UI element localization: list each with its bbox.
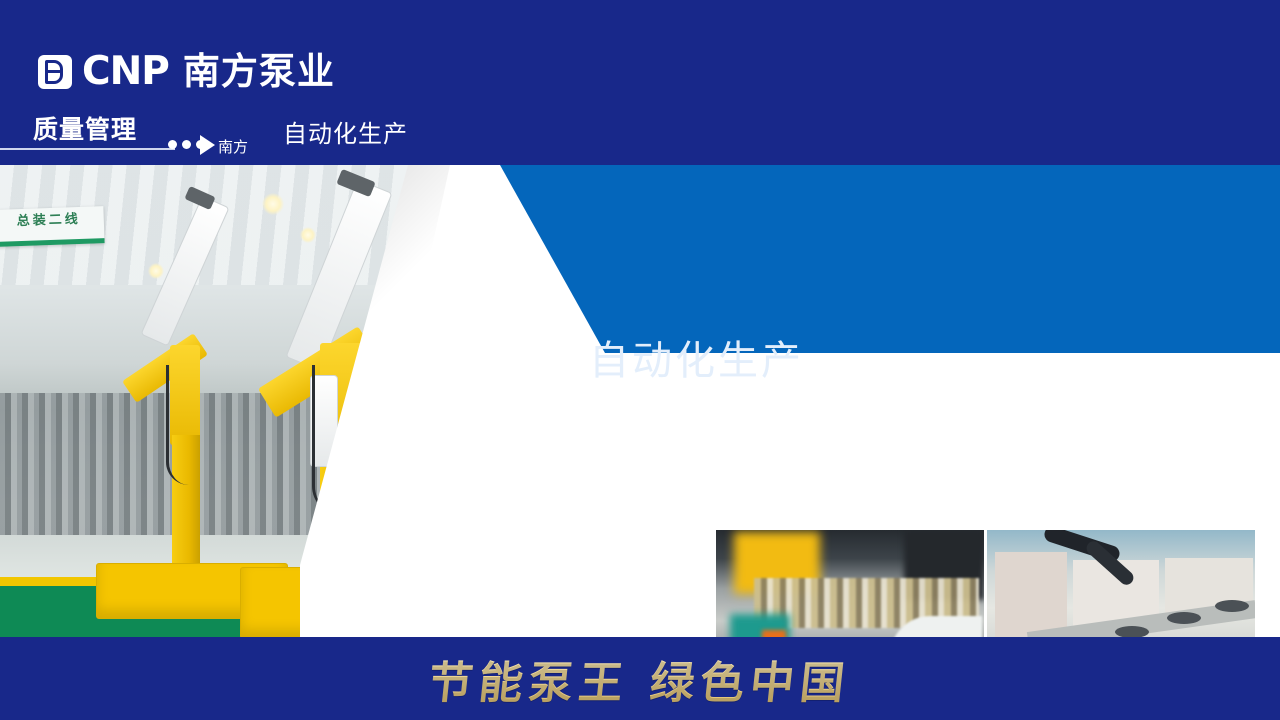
section-title: 质量管理 (33, 110, 137, 146)
panel-body-text: 如今的南方泵业，将自动化技术覆盖到零部件加工生产、整泵装配调试、出厂检验等诸多环… (590, 405, 990, 474)
panel-title: 自动化生产 (589, 341, 804, 381)
cnp-square-logo-icon (38, 55, 72, 89)
page-title: 自动化生产 (283, 114, 408, 149)
thumb-assembly-line[interactable] (716, 530, 984, 637)
nav-sub-label: 南方 (218, 136, 248, 157)
nav-arrow-icon (200, 135, 215, 155)
brand-logo[interactable]: CNP 南方泵业 (38, 52, 335, 91)
nav-divider-line (0, 148, 175, 150)
footer-slogan: 节能泵王 绿色中国 (0, 637, 1280, 720)
slide-root: CNP 南方泵业 质量管理 南方 自动化生产 总装二线 (0, 0, 1280, 720)
info-panel (500, 165, 1280, 353)
brand-logo-chinese: 南方泵业 (183, 53, 335, 90)
header-bar: CNP 南方泵业 质量管理 南方 自动化生产 (0, 0, 1280, 165)
content-stage: 总装二线 (0, 165, 1280, 637)
brand-logo-latin: CNP (82, 52, 169, 91)
thumb-robot-conveyor[interactable] (987, 530, 1255, 637)
